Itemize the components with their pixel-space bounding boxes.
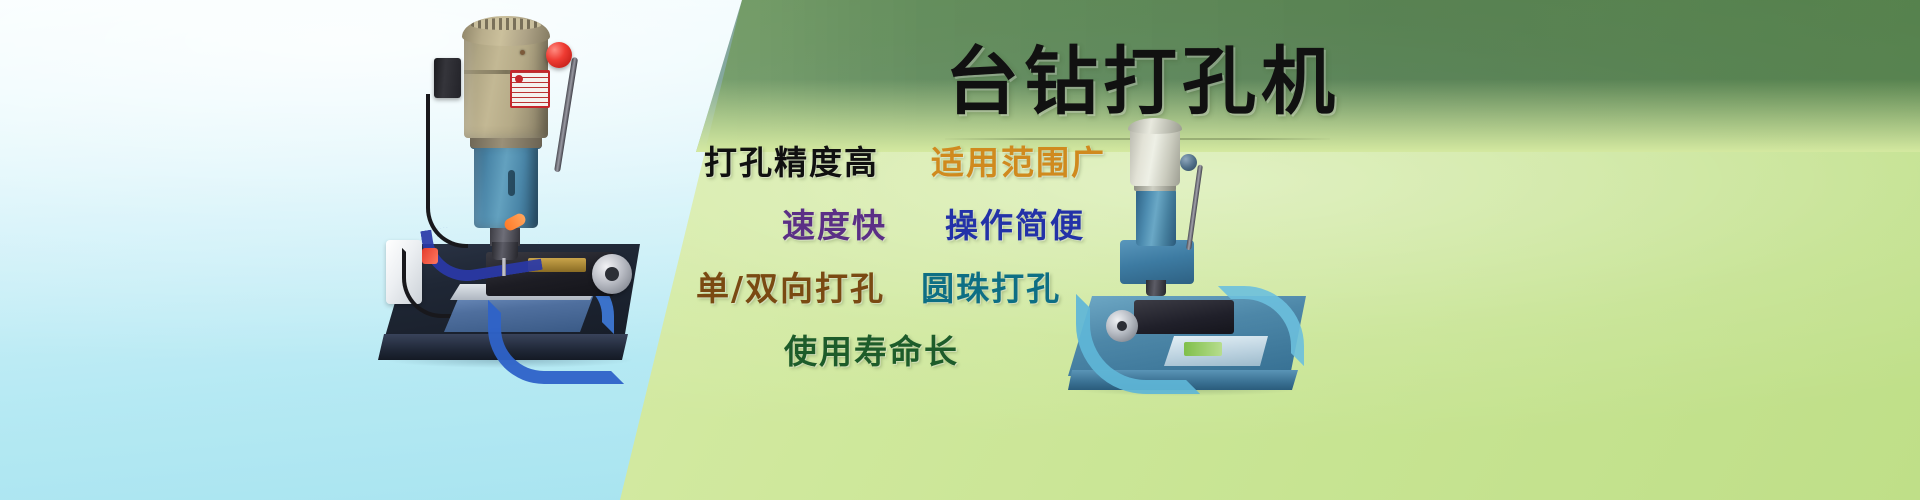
- machine-main-spindle-slot: [508, 170, 515, 196]
- bench-drill-machine-main-image: [378, 8, 648, 368]
- machine-secondary-motor-cap: [1128, 118, 1182, 134]
- machine-main-bolt: [520, 50, 525, 55]
- feature-item-bead-drilling: 圆珠打孔: [921, 264, 1061, 314]
- bench-drill-machine-secondary-image: [1068, 118, 1306, 400]
- machine-secondary-chuck: [1146, 280, 1166, 296]
- machine-main-drill-bit: [502, 258, 506, 276]
- machine-main-motor-vents: [471, 18, 541, 30]
- machine-main-junction-box: [434, 58, 461, 98]
- machine-main-lever-knob: [546, 42, 572, 68]
- machine-secondary-lever-arm: [1186, 164, 1203, 250]
- machine-main-spec-label: [510, 70, 550, 108]
- machine-secondary-head: [1120, 240, 1194, 284]
- machine-secondary-lever-knob: [1180, 154, 1197, 171]
- feature-item-easy-operation: 操作简便: [945, 201, 1085, 251]
- feature-item-precision: 打孔精度高: [704, 138, 879, 188]
- machine-secondary-vise: [1134, 300, 1234, 334]
- page-title: 台钻打孔机: [945, 40, 1825, 124]
- machine-main-spindle-housing: [474, 144, 538, 228]
- feature-item-single-double-drilling: 单/双向打孔: [696, 264, 885, 314]
- product-banner: 台钻打孔机 打孔精度高 适用范围广 速度快 操作简便 单/双向打孔 圆珠打孔 使…: [0, 0, 1920, 500]
- machine-secondary-spindle-housing: [1136, 188, 1176, 246]
- feature-item-long-life: 使用寿命长: [784, 327, 959, 377]
- machine-secondary-handwheel: [1106, 310, 1138, 342]
- feature-item-fast-speed: 速度快: [782, 201, 887, 251]
- machine-main-lever-arm: [554, 57, 578, 173]
- machine-main-handwheel: [592, 254, 632, 294]
- machine-main-coolant-valve: [422, 248, 438, 264]
- machine-secondary-sticker: [1184, 342, 1222, 356]
